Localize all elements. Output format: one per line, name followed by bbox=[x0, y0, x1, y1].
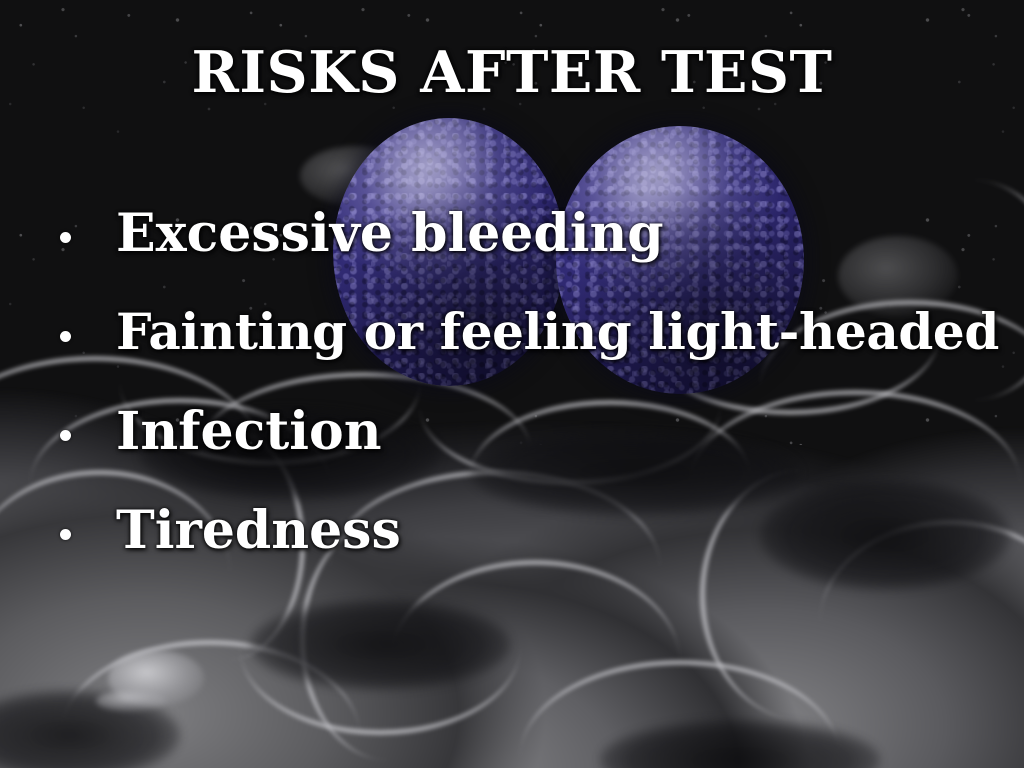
bullet-label-tiredness: Tiredness bbox=[116, 503, 401, 558]
bullet-point-icon bbox=[60, 430, 71, 441]
bullet-item-infection: Infection bbox=[0, 404, 1024, 503]
slide-title: RISKS AFTER TEST bbox=[0, 44, 1024, 101]
bullet-item-excessive-bleeding: Excessive bleeding bbox=[0, 206, 1024, 305]
bullet-label-infection: Infection bbox=[116, 404, 382, 459]
bullet-item-tiredness: Tiredness bbox=[0, 503, 1024, 602]
risk-bullet-list: Excessive bleeding Fainting or feeling l… bbox=[0, 206, 1024, 602]
presentation-slide: RISKS AFTER TEST Excessive bleeding Fain… bbox=[0, 0, 1024, 768]
bullet-point-icon bbox=[60, 529, 71, 540]
bullet-label-excessive-bleeding: Excessive bleeding bbox=[116, 206, 664, 261]
bullet-point-icon bbox=[60, 232, 71, 243]
bullet-point-icon bbox=[60, 331, 71, 342]
slide-text-layer: RISKS AFTER TEST Excessive bleeding Fain… bbox=[0, 0, 1024, 768]
bullet-label-fainting: Fainting or feeling light-headed bbox=[116, 305, 999, 358]
bullet-item-fainting: Fainting or feeling light-headed bbox=[0, 305, 1024, 404]
